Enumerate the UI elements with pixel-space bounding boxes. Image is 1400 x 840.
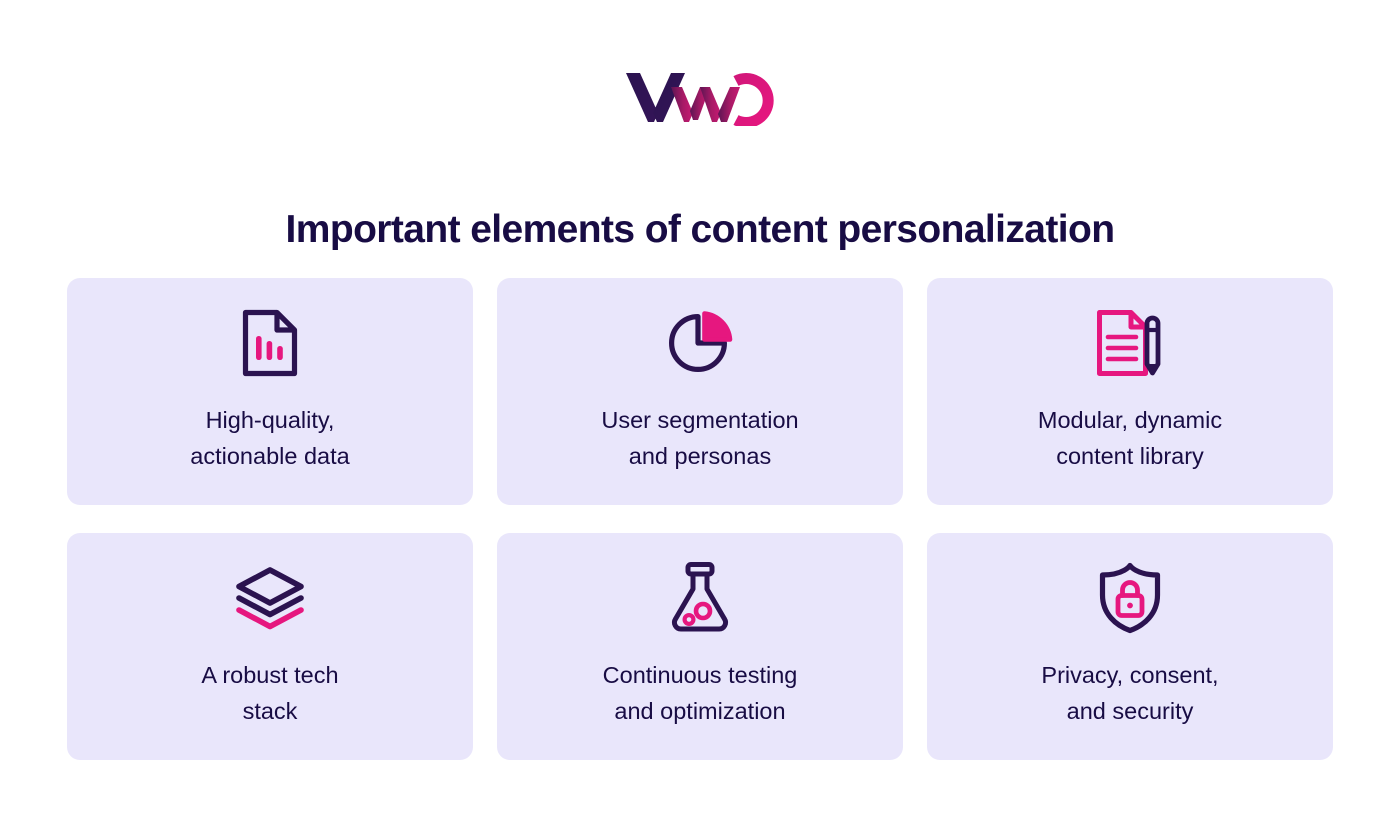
page-title: Important elements of content personaliz…	[0, 206, 1400, 255]
shield-lock-icon	[1098, 560, 1162, 636]
card-label: A robust tech stack	[201, 658, 338, 729]
card-label: Continuous testing and optimization	[603, 658, 798, 729]
card-label: Privacy, consent, and security	[1041, 658, 1218, 729]
document-bar-chart-icon	[241, 305, 299, 381]
pie-chart-icon	[667, 305, 733, 381]
brand-logo	[0, 62, 1400, 134]
card-user-segmentation-and-personas[interactable]: User segmentation and personas	[497, 278, 903, 505]
card-label: User segmentation and personas	[601, 403, 798, 474]
card-a-robust-tech-stack[interactable]: A robust tech stack	[67, 533, 473, 760]
elements-grid: High-quality, actionable data User segme…	[67, 278, 1333, 760]
card-privacy-consent-and-security[interactable]: Privacy, consent, and security	[927, 533, 1333, 760]
card-continuous-testing-and-optimization[interactable]: Continuous testing and optimization	[497, 533, 903, 760]
document-pencil-icon	[1095, 305, 1165, 381]
flask-icon	[669, 560, 731, 636]
card-high-quality-actionable-data[interactable]: High-quality, actionable data	[67, 278, 473, 505]
vwo-logo	[624, 70, 776, 126]
stacked-layers-icon	[233, 560, 307, 636]
card-label: Modular, dynamic content library	[1038, 403, 1222, 474]
card-modular-dynamic-content-library[interactable]: Modular, dynamic content library	[927, 278, 1333, 505]
card-label: High-quality, actionable data	[190, 403, 349, 474]
